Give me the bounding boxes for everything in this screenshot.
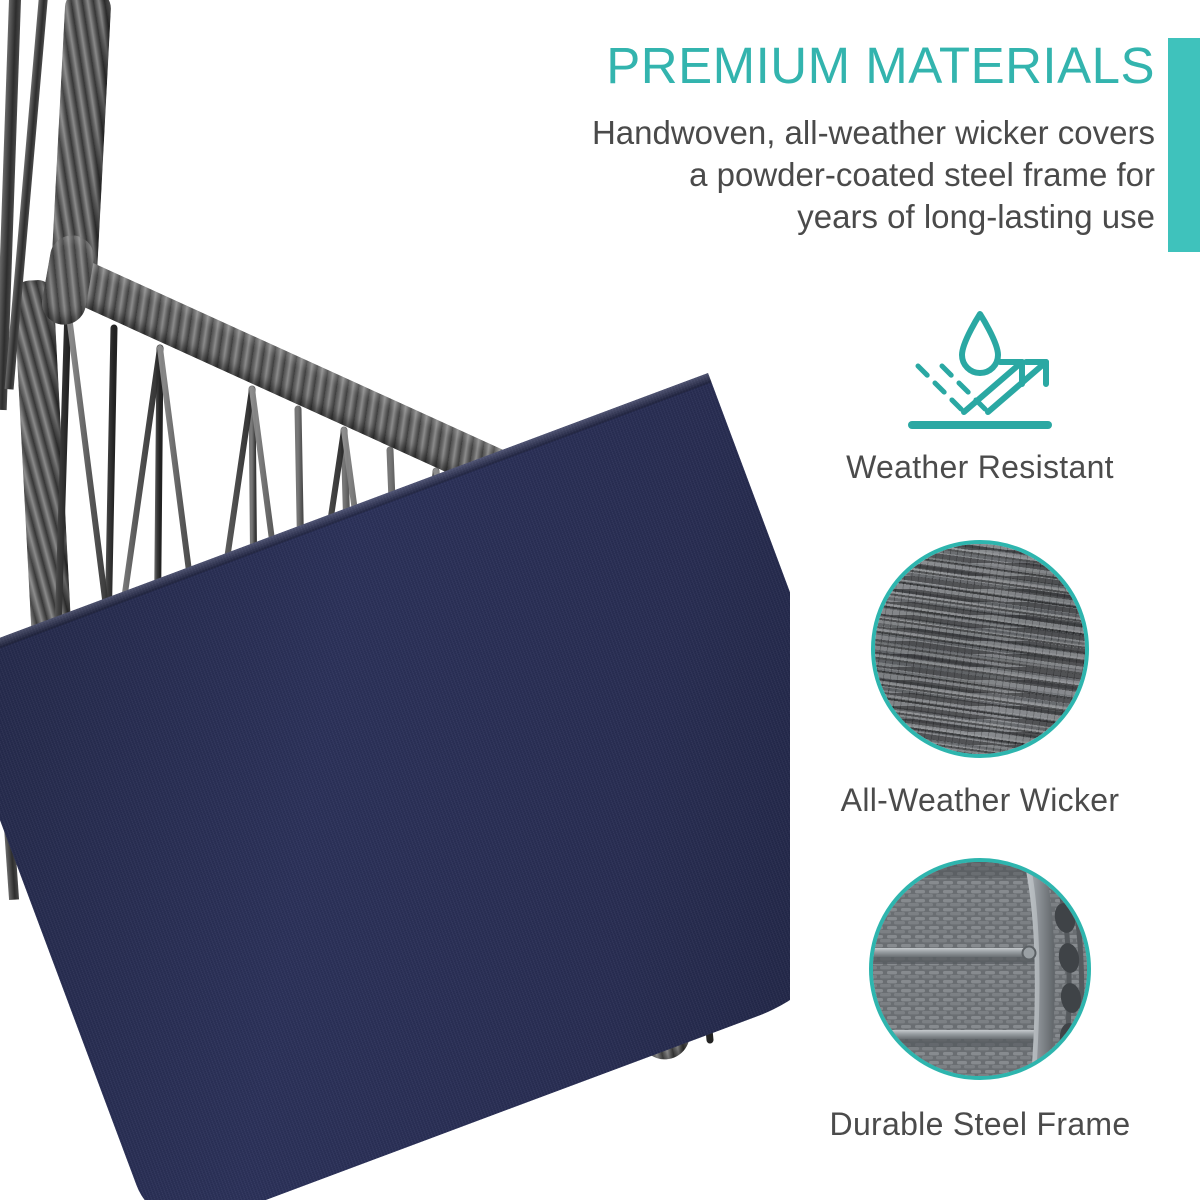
steel-frame-photo <box>873 862 1087 1076</box>
subtitle-line-3: years of long-lasting use <box>410 196 1155 238</box>
subtitle-line-1: Handwoven, all-weather wicker covers <box>410 112 1155 154</box>
steel-frame-thumbnail <box>869 858 1091 1080</box>
feature-label-weather-resistant: Weather Resistant <box>760 449 1200 486</box>
subtitle-line-2: a powder-coated steel frame for <box>410 154 1155 196</box>
feature-label-all-weather-wicker: All-Weather Wicker <box>760 782 1200 819</box>
marketing-image-root: PREMIUM MATERIALS Handwoven, all-weather… <box>0 0 1200 1200</box>
info-panel: PREMIUM MATERIALS Handwoven, all-weather… <box>760 0 1200 1200</box>
feature-durable-steel-frame: Durable Steel Frame <box>760 858 1200 1143</box>
feature-weather-resistant: Weather Resistant <box>760 300 1200 486</box>
feature-all-weather-wicker: All-Weather Wicker <box>760 540 1200 819</box>
subtitle: Handwoven, all-weather wicker covers a p… <box>410 112 1155 239</box>
page-title: PREMIUM MATERIALS <box>410 38 1155 93</box>
feature-label-durable-steel-frame: Durable Steel Frame <box>760 1106 1200 1143</box>
accent-bar <box>1168 38 1200 252</box>
wicker-weave-overlay <box>871 540 1089 758</box>
wicker-weave-thumbnail <box>871 540 1089 758</box>
water-repellent-icon <box>760 300 1200 435</box>
